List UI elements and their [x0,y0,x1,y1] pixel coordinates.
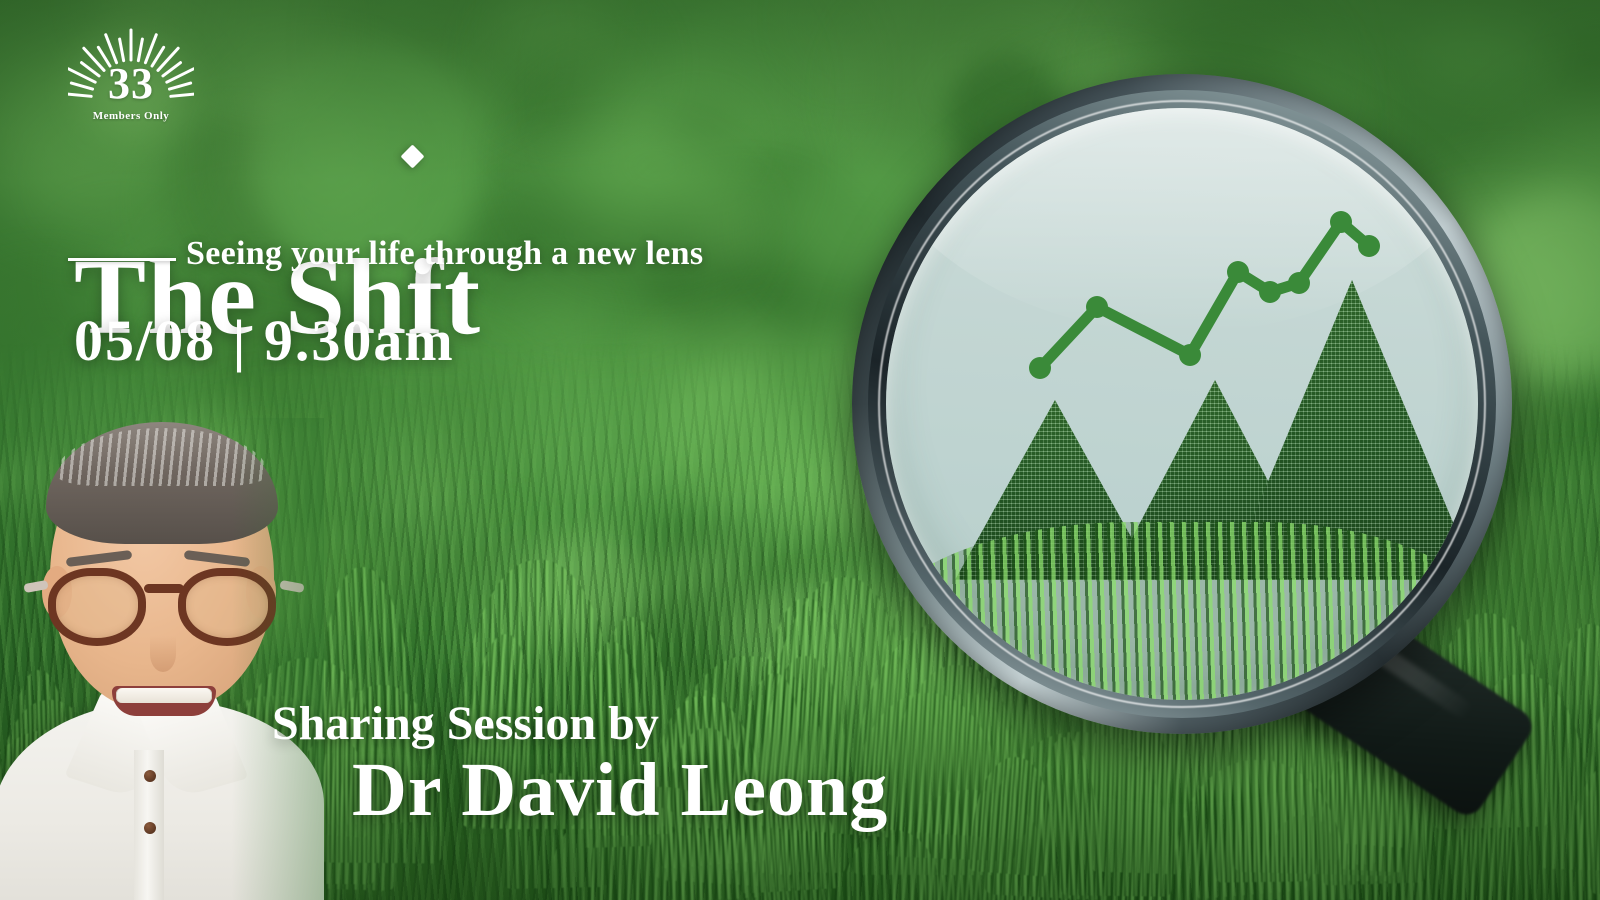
glasses-bridge [144,584,184,593]
chart-point-5 [1259,281,1281,303]
glasses-lens-left [48,568,146,646]
chart-point-7 [1330,211,1352,233]
event-poster: 33 Members Only The Shift Seeing your li… [0,0,1600,900]
chart-point-4 [1227,261,1249,283]
chart-point-6 [1288,272,1310,294]
magnifying-glass [852,74,1512,734]
chart-point-1 [1029,357,1051,379]
glasses-lens-right [178,568,276,646]
logo-number: 33 [68,62,194,106]
magnifier-lens [886,108,1478,700]
brand-logo[interactable]: 33 Members Only [68,26,194,142]
speaker-portrait [0,418,324,900]
event-datetime: 05/08 | 9.30am [74,312,455,370]
tagline: Seeing your life through a new lens [186,235,703,272]
speaker-name: Dr David Leong [352,752,888,828]
nose [150,636,176,672]
glasses-temple-left [23,580,48,593]
chart-point-3 [1179,344,1201,366]
speaker-prefix: Sharing Session by [272,700,659,748]
growth-line-chart [886,108,1478,700]
chart-point-8 [1358,235,1380,257]
mouth [112,686,216,716]
hair [46,422,278,544]
glasses-temple-right [279,580,304,593]
tagline-rule [68,258,176,261]
chart-point-2 [1086,296,1108,318]
logo-subtitle: Members Only [68,110,194,122]
shirt-button-bottom [144,822,156,834]
shirt-button-top [144,770,156,782]
teeth [116,688,212,703]
diamond-dot-icon [401,144,425,168]
